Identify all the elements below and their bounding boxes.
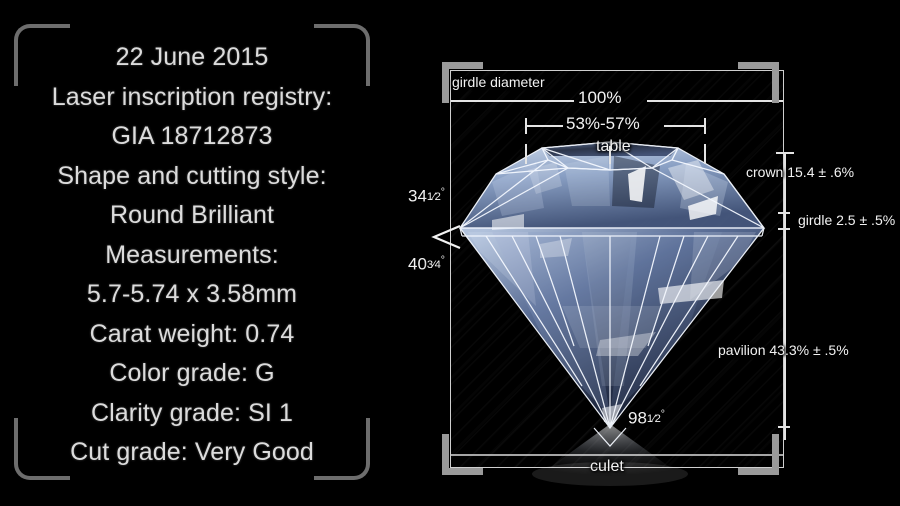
- dimension-cap-table-right: [704, 118, 706, 134]
- diagram-corner-bracket-top-right: [738, 62, 779, 103]
- label-table: table: [596, 138, 631, 156]
- diagram-corner-bracket-bottom-right: [738, 434, 779, 475]
- crown-angle-fraction: 1⁄2: [427, 191, 441, 203]
- info-line-registry-label: Laser inscription registry:: [52, 78, 333, 118]
- culet-angle-degree: °: [661, 408, 665, 420]
- dimension-line-table-right: [664, 125, 706, 127]
- table-tick-right: [704, 144, 706, 164]
- dimension-cap-girdle-bottom: [778, 228, 790, 230]
- table-tick-left: [525, 144, 527, 164]
- label-table-percent: 53%-57%: [566, 114, 640, 134]
- diamond-proportion-diagram: girdle diameter 100% 53%-57% table crown…: [432, 56, 792, 484]
- dimension-cap-pavilion-bottom: [778, 426, 790, 428]
- dimension-line-vertical: [784, 152, 786, 440]
- info-line-clarity-grade: Clarity grade: SI 1: [91, 394, 293, 434]
- screen: 22 June 2015 Laser inscription registry:…: [0, 0, 900, 506]
- info-line-carat-weight: Carat weight: 0.74: [90, 315, 295, 355]
- culet-baseline: [451, 454, 783, 456]
- info-line-registry-value: GIA 18712873: [111, 117, 272, 157]
- diagram-corner-bracket-top-left: [442, 62, 483, 103]
- info-line-cut-grade: Cut grade: Very Good: [70, 433, 314, 473]
- label-pavilion-percentage: pavilion 43.3% ± .5%: [718, 342, 849, 358]
- info-line-measurements-label: Measurements:: [105, 236, 279, 276]
- info-line-color-grade: Color grade: G: [109, 354, 274, 394]
- label-crown-percentage: crown 15.4 ± .6%: [746, 164, 854, 180]
- label-crown-angle: 341⁄2°: [408, 186, 445, 207]
- culet-angle-fraction: 1⁄2: [647, 413, 661, 425]
- label-girdle-percentage: girdle 2.5 ± .5%: [798, 212, 895, 228]
- dimension-cap-table-left: [525, 118, 527, 134]
- dimension-cap-crown-top: [776, 152, 794, 154]
- culet-angle-value: 98: [628, 409, 647, 428]
- certificate-info-panel: 22 June 2015 Laser inscription registry:…: [14, 24, 370, 480]
- crown-angle-degree: °: [441, 186, 445, 198]
- pavilion-angle-fraction: 3⁄4: [427, 259, 441, 271]
- dimension-cap-girdle-top: [778, 212, 790, 214]
- info-line-shape-value: Round Brilliant: [110, 196, 274, 236]
- diagram-corner-bracket-bottom-left: [442, 434, 483, 475]
- label-total-width-percent: 100%: [578, 88, 621, 108]
- angle-arrow-icon: [424, 218, 484, 258]
- crown-angle-value: 34: [408, 187, 427, 206]
- label-culet-angle: 981⁄2°: [628, 408, 665, 429]
- dimension-line-table-left: [525, 125, 563, 127]
- certificate-text-block: 22 June 2015 Laser inscription registry:…: [22, 38, 362, 473]
- label-culet: culet: [590, 458, 624, 476]
- info-line-shape-label: Shape and cutting style:: [57, 157, 326, 197]
- info-line-measurements-value: 5.7-5.74 x 3.58mm: [87, 275, 297, 315]
- table-tick-center: [609, 146, 611, 164]
- info-line-date: 22 June 2015: [116, 38, 269, 78]
